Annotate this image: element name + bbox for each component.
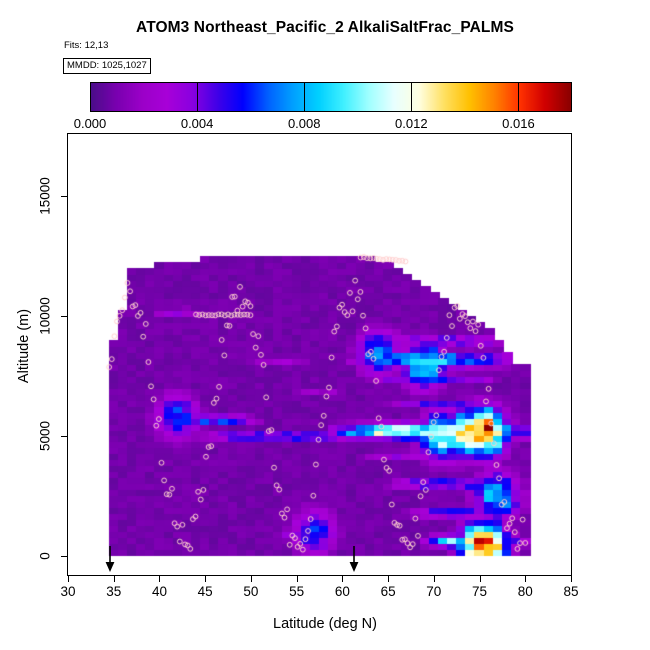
colorbar-tick-label: 0.000 xyxy=(74,116,107,131)
x-tick xyxy=(388,575,389,582)
colorbar-tick-label: 0.004 xyxy=(181,116,214,131)
y-tick xyxy=(61,436,68,437)
colorbar-tick xyxy=(197,82,198,112)
x-tick xyxy=(571,575,572,582)
y-tick-label: 15000 xyxy=(38,178,53,216)
colorbar-tick xyxy=(304,82,305,112)
profile-marker-arrow xyxy=(104,546,116,572)
mmdd-annotation-box: MMDD: 1025,1027 xyxy=(63,58,151,74)
x-tick-label: 40 xyxy=(152,584,167,599)
x-tick xyxy=(297,575,298,582)
x-tick-label: 85 xyxy=(563,584,578,599)
colorbar-tick xyxy=(518,82,519,112)
y-tick-label: 5000 xyxy=(38,421,53,451)
fits-annotation: Fits: 12,13 xyxy=(64,40,108,51)
x-tick-label: 60 xyxy=(335,584,350,599)
colorbar-tick-labels: 0.0000.0040.0080.0120.016 xyxy=(90,116,572,132)
colorbar-gradient xyxy=(90,82,572,112)
colorbar-tick-label: 0.016 xyxy=(502,116,535,131)
x-tick-label: 55 xyxy=(289,584,304,599)
x-axis-label: Latitude (deg N) xyxy=(0,616,650,632)
x-tick xyxy=(434,575,435,582)
y-tick xyxy=(61,556,68,557)
x-tick-label: 75 xyxy=(472,584,487,599)
profile-marker-arrow xyxy=(348,546,360,572)
colorbar-tick-label: 0.008 xyxy=(288,116,321,131)
page-title: ATOM3 Northeast_Pacific_2 AlkaliSaltFrac… xyxy=(0,19,650,37)
x-tick xyxy=(205,575,206,582)
x-tick-label: 80 xyxy=(518,584,533,599)
x-tick xyxy=(251,575,252,582)
colorbar-tick xyxy=(411,82,412,112)
mmdd-annotation: MMDD: 1025,1027 xyxy=(67,60,147,71)
heatmap-plot xyxy=(67,133,572,576)
x-tick xyxy=(480,575,481,582)
colorbar-tick-label: 0.012 xyxy=(395,116,428,131)
y-tick xyxy=(61,316,68,317)
colorbar xyxy=(90,82,572,112)
y-tick-label: 0 xyxy=(38,552,53,560)
x-tick xyxy=(159,575,160,582)
x-tick-label: 45 xyxy=(198,584,213,599)
y-tick-label: 10000 xyxy=(38,297,53,335)
x-tick-label: 35 xyxy=(106,584,121,599)
x-tick-label: 30 xyxy=(60,584,75,599)
x-tick xyxy=(342,575,343,582)
x-tick xyxy=(68,575,69,582)
y-tick xyxy=(61,196,68,197)
y-axis-label: Altitude (m) xyxy=(16,266,32,426)
x-tick-label: 65 xyxy=(381,584,396,599)
x-tick-label: 50 xyxy=(243,584,258,599)
x-tick xyxy=(525,575,526,582)
x-tick-label: 70 xyxy=(426,584,441,599)
x-tick xyxy=(114,575,115,582)
chart-root: ATOM3 Northeast_Pacific_2 AlkaliSaltFrac… xyxy=(0,0,650,650)
